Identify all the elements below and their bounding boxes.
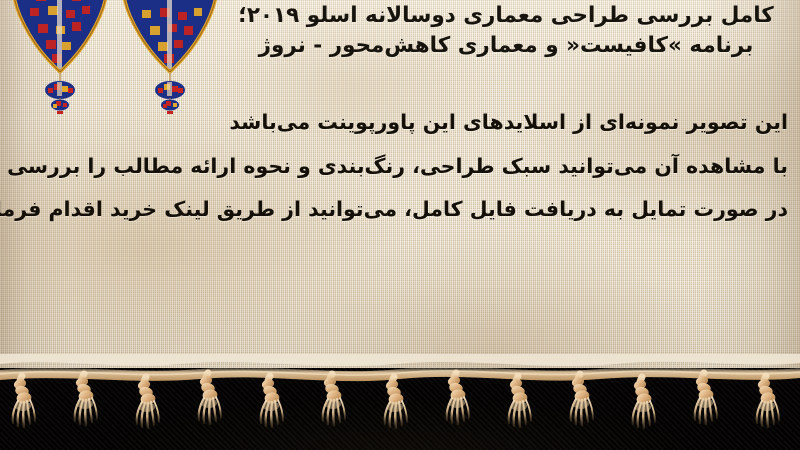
pendant-motif-small xyxy=(161,100,179,111)
title-line-2: برنامه »کافیست« و معماری کاهش‌محور - نرو… xyxy=(226,34,786,59)
presentation-slide: کامل بررسی طراحی معماری دوسالانه اسلو ۲۰… xyxy=(0,0,800,450)
slide-title: کامل بررسی طراحی معماری دوسالانه اسلو ۲۰… xyxy=(226,4,786,59)
pendant-motif-small xyxy=(51,100,69,111)
body-line-2: با مشاهده آن می‌توانید سبک طراحی، رنگ‌بن… xyxy=(10,156,788,177)
slide-body-text: این تصویر نمونه‌ای از اسلایدهای این پاور… xyxy=(10,112,788,243)
title-line-1: کامل بررسی طراحی معماری دوسالانه اسلو ۲۰… xyxy=(226,4,786,29)
ornament-pair xyxy=(8,0,228,114)
persian-medallion-ornament-left xyxy=(8,0,112,114)
body-line-1: این تصویر نمونه‌ای از اسلایدهای این پاور… xyxy=(10,112,788,133)
pendant-motif xyxy=(45,81,75,99)
body-line-3: در صورت تمایل به دریافت فایل کامل، می‌تو… xyxy=(10,199,788,220)
carpet-tassel-fringe xyxy=(0,368,800,450)
persian-medallion-ornament-right xyxy=(118,0,222,114)
pendant-motif xyxy=(155,81,185,99)
